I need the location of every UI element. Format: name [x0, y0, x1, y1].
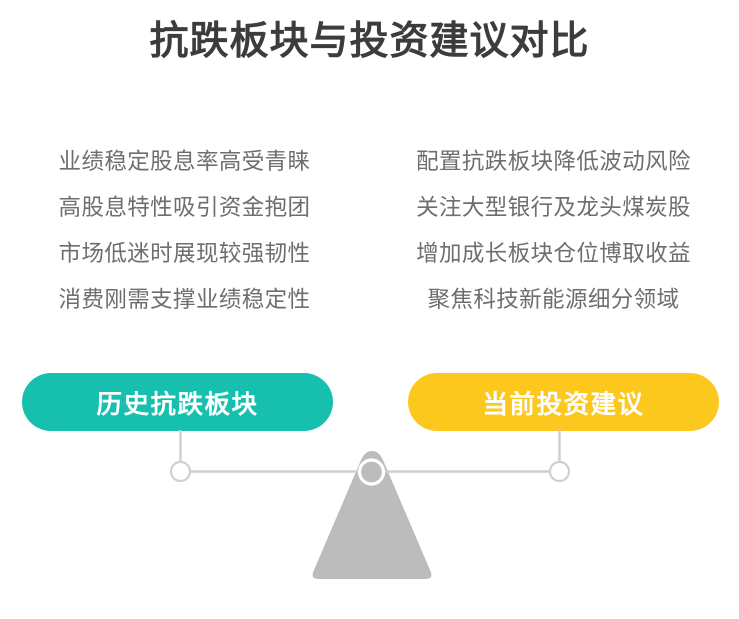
- list-item: 聚焦科技新能源细分领域: [428, 277, 680, 323]
- pivot-circle: [360, 460, 384, 484]
- column-right-advice: 配置抗跌板块降低波动风险 关注大型银行及龙头煤炭股 增加成长板块仓位博取收益 聚…: [369, 139, 738, 335]
- beam-node-right: [550, 462, 569, 481]
- list-item: 业绩稳定股息率高受青睐: [59, 139, 311, 185]
- column-left-history: 业绩稳定股息率高受青睐 高股息特性吸引资金抱团 市场低迷时展现较强韧性 消费刚需…: [0, 139, 369, 335]
- list-item: 配置抗跌板块降低波动风险: [416, 139, 691, 185]
- balance-scale-icon: [0, 420, 739, 619]
- comparison-columns: 业绩稳定股息率高受青睐 高股息特性吸引资金抱团 市场低迷时展现较强韧性 消费刚需…: [0, 139, 739, 335]
- page-title: 抗跌板块与投资建议对比: [0, 17, 739, 67]
- list-item: 增加成长板块仓位博取收益: [416, 231, 691, 277]
- list-item: 高股息特性吸引资金抱团: [59, 185, 311, 231]
- beam-node-left: [171, 462, 190, 481]
- list-item: 消费刚需支撑业绩稳定性: [59, 277, 311, 323]
- infographic-canvas: 抗跌板块与投资建议对比 业绩稳定股息率高受青睐 高股息特性吸引资金抱团 市场低迷…: [0, 0, 739, 619]
- list-item: 关注大型银行及龙头煤炭股: [416, 185, 691, 231]
- list-item: 市场低迷时展现较强韧性: [59, 231, 311, 277]
